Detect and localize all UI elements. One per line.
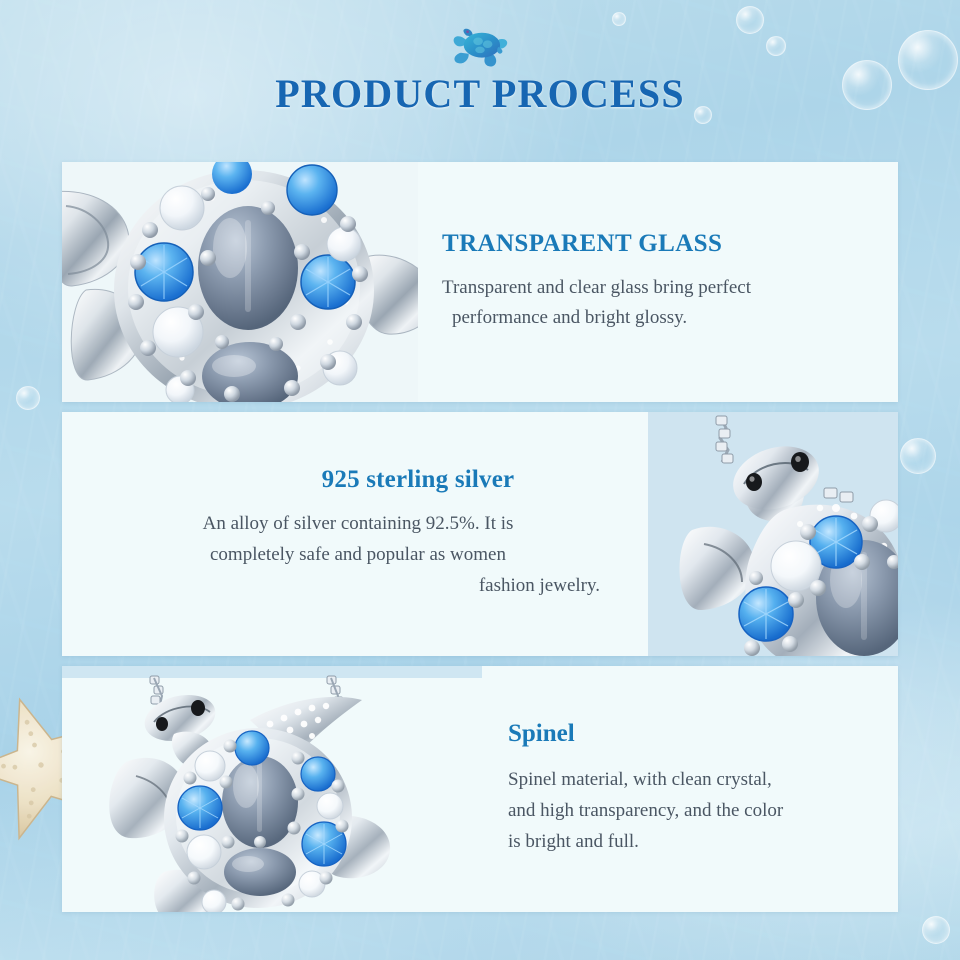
panel-image-sterling-silver <box>648 412 898 656</box>
process-panel-transparent-glass: TRANSPARENT GLASS Transparent and clear … <box>62 162 898 402</box>
panel-text-sterling-silver: 925 sterling silver An alloy of silver c… <box>62 412 648 656</box>
panel-heading: 925 sterling silver <box>92 466 624 495</box>
panel-image-transparent-glass <box>62 162 418 402</box>
panel-body-line: and high transparency, and the color <box>508 800 783 821</box>
bubble-decoration <box>900 438 936 474</box>
sea-turtle-icon <box>449 26 511 70</box>
infographic-page: PRODUCT PROCESS <box>0 0 960 960</box>
turtle-pendant-full-image <box>62 666 482 912</box>
turtle-pendant-macro-image <box>62 162 418 402</box>
bubble-decoration <box>922 916 950 944</box>
panel-heading: Spinel <box>508 720 868 749</box>
process-panel-sterling-silver: 925 sterling silver An alloy of silver c… <box>62 412 898 656</box>
panel-body-line: Transparent and clear glass bring perfec… <box>442 277 751 298</box>
page-header: PRODUCT PROCESS <box>0 0 960 116</box>
panel-body-line: completely safe and popular as women <box>210 544 506 565</box>
page-title: PRODUCT PROCESS <box>0 72 960 116</box>
process-panel-spinel: Spinel Spinel material, with clean cryst… <box>62 666 898 912</box>
bubble-decoration <box>16 386 40 410</box>
panel-text-transparent-glass: TRANSPARENT GLASS Transparent and clear … <box>418 162 898 402</box>
panel-body: An alloy of silver containing 92.5%. It … <box>92 509 624 601</box>
panel-body: Spinel material, with clean crystal, and… <box>508 765 868 857</box>
panel-body-line: fashion jewelry. <box>92 571 624 602</box>
panel-body-line: An alloy of silver containing 92.5%. It … <box>203 513 514 534</box>
panel-heading: TRANSPARENT GLASS <box>442 230 868 259</box>
turtle-head-chain-image <box>648 412 898 656</box>
panel-image-spinel <box>62 666 482 912</box>
panel-text-spinel: Spinel Spinel material, with clean cryst… <box>482 666 898 912</box>
panel-body-line: performance and bright glossy. <box>442 303 868 334</box>
panel-body-line: is bright and full. <box>508 831 639 852</box>
panel-body: Transparent and clear glass bring perfec… <box>442 273 868 335</box>
panel-body-line: Spinel material, with clean crystal, <box>508 769 772 790</box>
